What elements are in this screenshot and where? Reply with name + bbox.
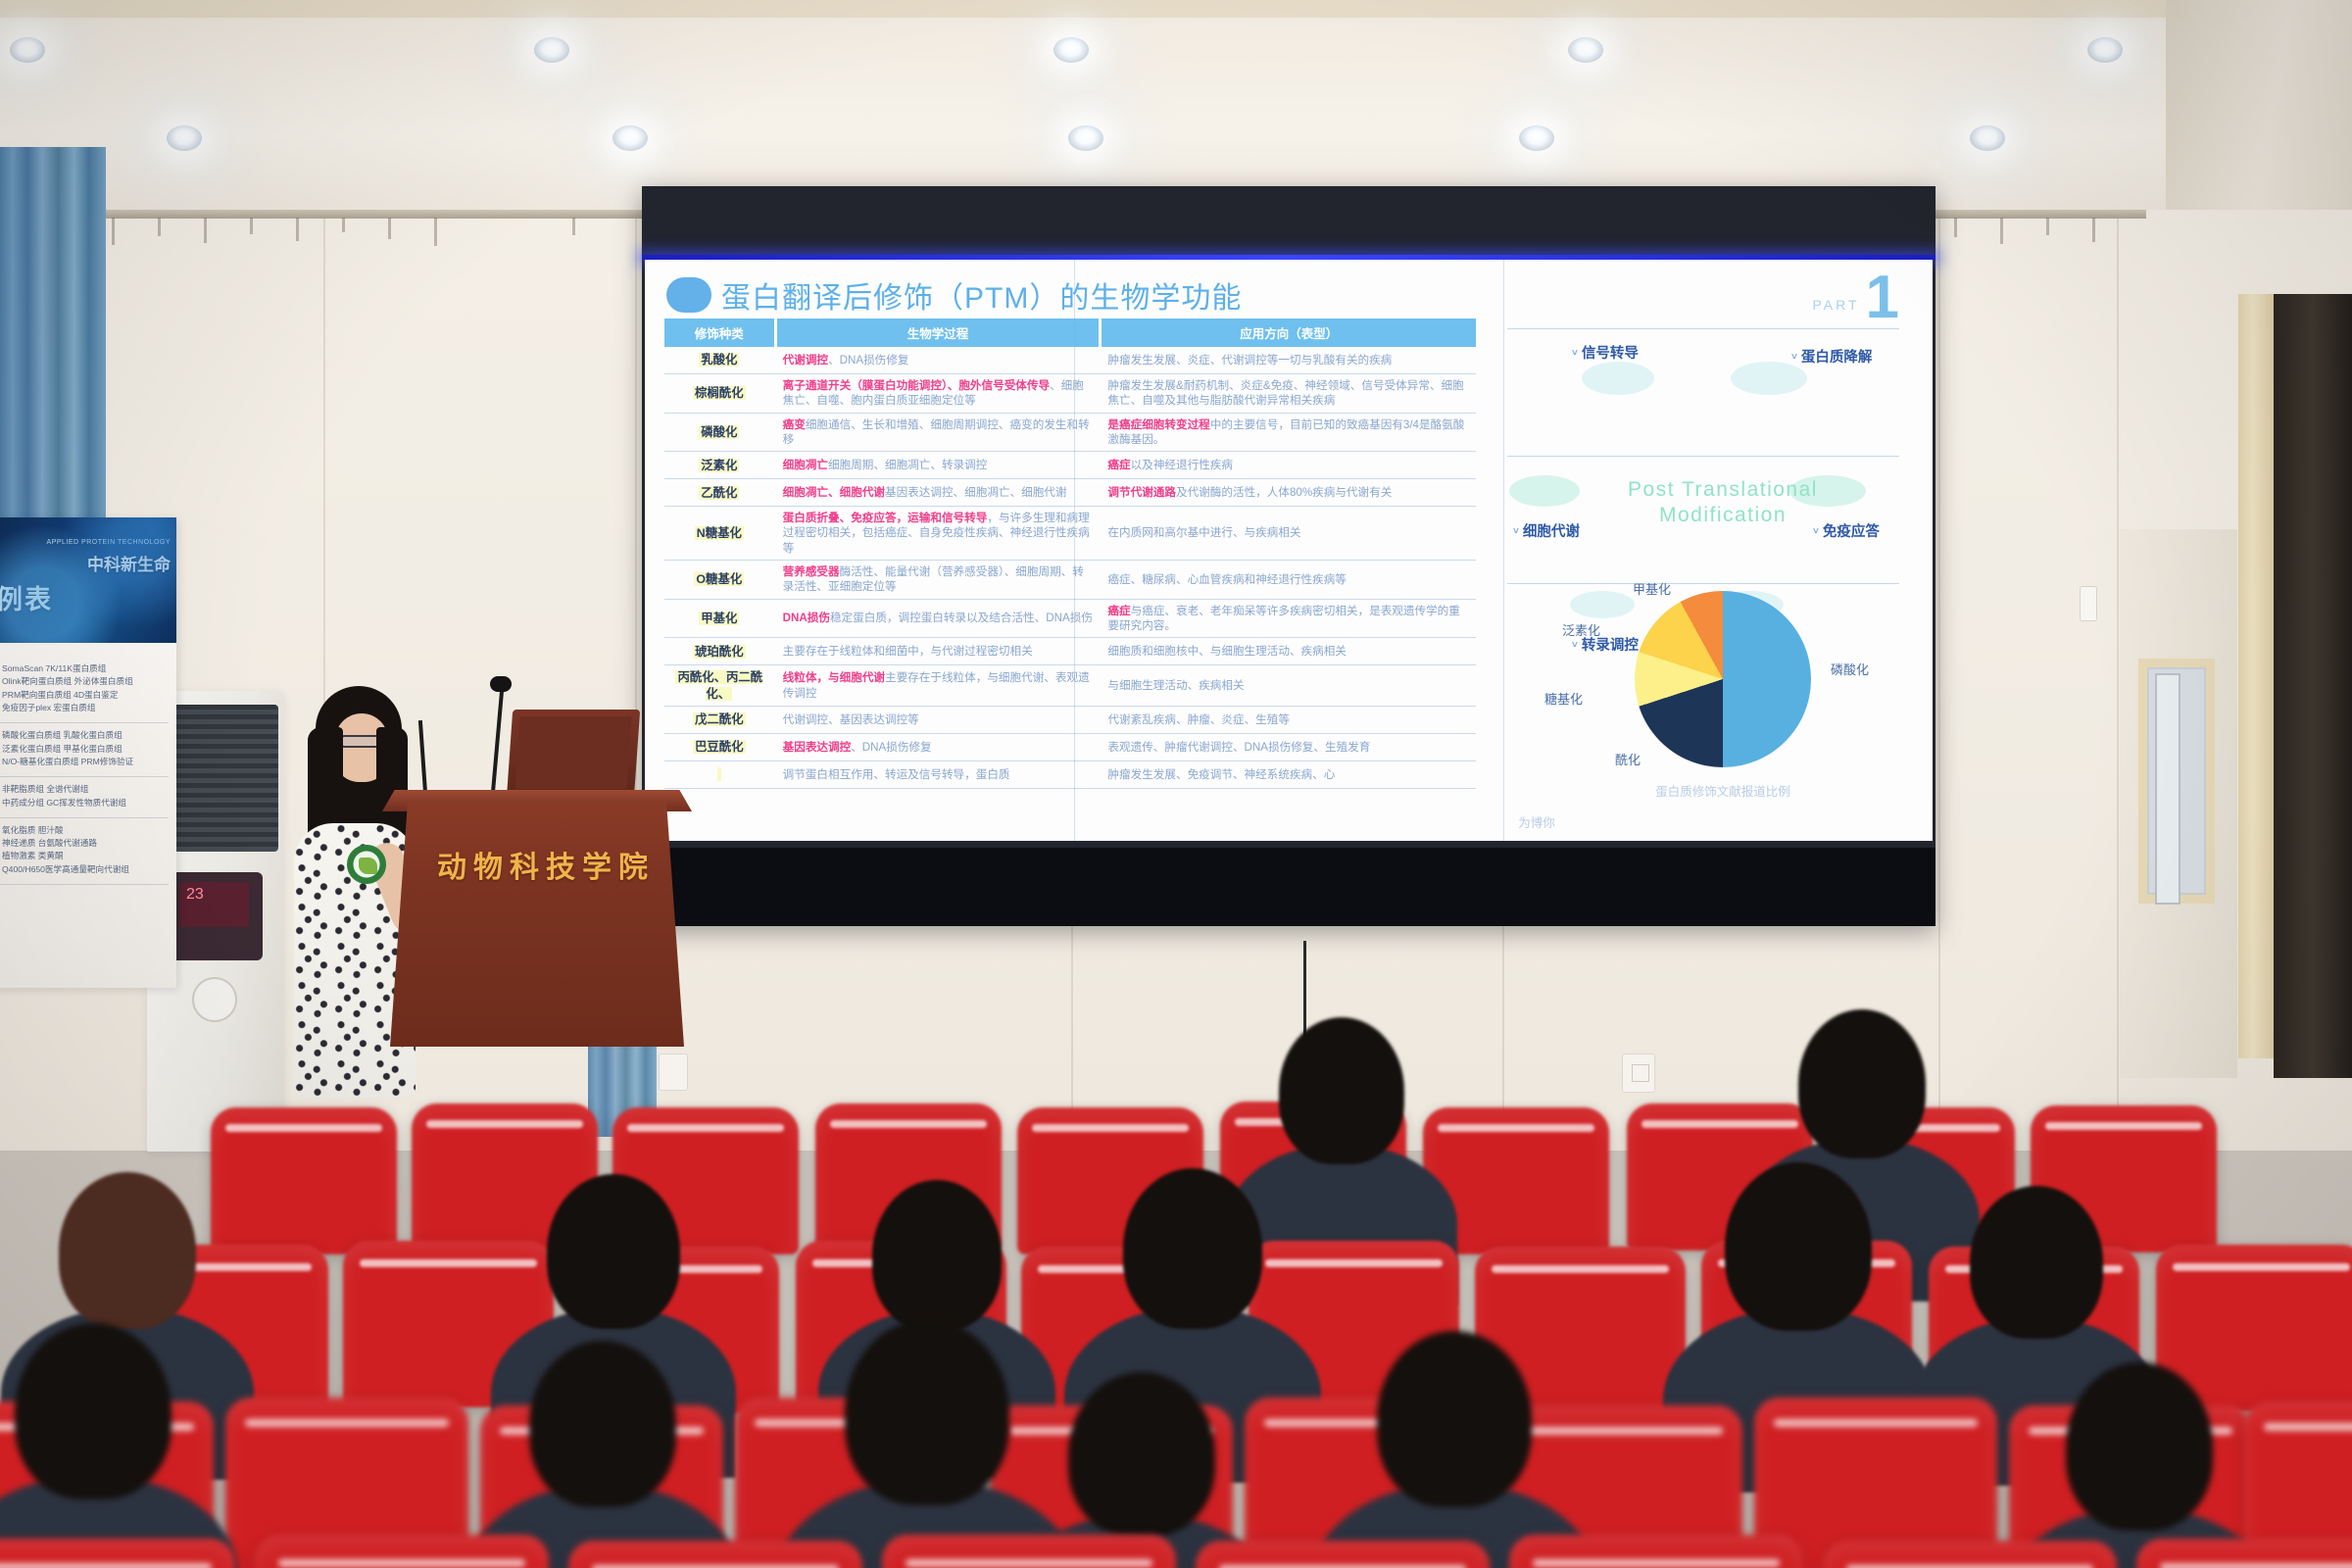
highlight-span: 乳酸化 — [699, 353, 739, 367]
highlight-span: 甲基化 — [699, 612, 739, 625]
highlight-span: 丙酰化、丙二酰化、 — [675, 670, 762, 700]
ptm-function-degradation: 蛋白质降解 — [1791, 346, 1872, 367]
cell-biological-process: 营养感受器酶活性、能量代谢（营养感受器）、细胞周期、转录活性、亚细胞定位等 — [777, 561, 1100, 599]
ceiling-light — [2087, 37, 2123, 63]
cell-text: 稳定蛋白质，调控蛋白转录以及结合活性、DNA损伤 — [830, 612, 1093, 624]
ceiling-bevel — [2166, 0, 2352, 225]
audience-member — [15, 1323, 171, 1499]
ceiling-light — [167, 125, 202, 151]
highlight-span: 泛素化 — [699, 459, 739, 472]
rollup-banner: APPLIED PROTEIN TECHNOLOGY 中科新生命 例表 Soma… — [0, 517, 176, 988]
cell-modification-type — [664, 762, 774, 786]
cell-modification-type: 泛素化 — [664, 454, 774, 477]
highlight-span: N糖基化 — [695, 526, 744, 540]
curtain-hook — [296, 218, 299, 241]
cell-text: 肿瘤发生发展、炎症、代谢调控等一切与乳酸有关的疾病 — [1107, 354, 1392, 367]
banner-service-item: 中药成分组 GC挥发性物质代谢组 — [2, 797, 167, 809]
ptm-overview-panel: PART 1 信号转导 蛋白质降解 细胞代谢 免疫应答 — [1507, 268, 1919, 836]
cell-application: 与细胞生理活动、疾病相关 — [1102, 674, 1476, 697]
cell-text: 以及神经退行性疾病 — [1131, 459, 1233, 471]
cell-text: 细胞通信、生长和增殖、细胞周期调控、癌变的发生和转移 — [783, 418, 1090, 446]
highlight-span: 琥珀酰化 — [693, 645, 746, 659]
cell-biological-process: 代谢调控、DNA损伤修复 — [777, 349, 1100, 371]
decorative-bubble — [1509, 475, 1580, 507]
pie-slice-label: 甲基化 — [1633, 579, 1671, 598]
highlight-span: 乙酰化 — [699, 486, 739, 500]
led-tile-seam — [1503, 260, 1504, 841]
ceiling-light — [534, 37, 569, 63]
cell-biological-process: 细胞凋亡细胞周期、细胞凋亡、转录调控 — [777, 454, 1100, 476]
curtain-hook — [388, 218, 391, 239]
pie-slice-label: 糖基化 — [1544, 689, 1583, 708]
table-row: O糖基化营养感受器酶活性、能量代谢（营养感受器）、细胞周期、转录活性、亚细胞定位… — [664, 561, 1476, 600]
screen-lower-bezel — [642, 848, 1935, 926]
table-row: 乳酸化代谢调控、DNA损伤修复肿瘤发生发展、炎症、代谢调控等一切与乳酸有关的疾病 — [664, 347, 1476, 374]
table-row: 泛素化细胞凋亡细胞周期、细胞凋亡、转录调控癌症以及神经退行性疾病 — [664, 452, 1476, 479]
ceiling-light — [1053, 37, 1089, 63]
banner-service-item: PRM靶向蛋白质组 4D蛋白鉴定 — [2, 689, 167, 702]
banner-service-item: 植物激素 类黄酮 — [2, 850, 167, 862]
ceiling-light — [612, 125, 648, 151]
panel-footer-note: 为博你 — [1478, 812, 1595, 831]
cell-modification-type: 磷酸化 — [664, 420, 774, 444]
slide-content: 蛋白翻译后修饰（PTM）的生物学功能 修饰种类 生物学过程 应用方向（表型） 乳… — [645, 260, 1933, 841]
audience-member — [1279, 1017, 1404, 1164]
highlight-span: 离子通道开关（膜蛋白功能调控）、胞外信号受体传导 — [783, 379, 1050, 392]
audience-member — [1123, 1168, 1262, 1329]
cell-application: 代谢紊乱疾病、肿瘤、炎症、生殖等 — [1102, 709, 1476, 731]
cell-application: 在内质网和高尔基中进行、与疾病相关 — [1102, 521, 1476, 544]
divider — [1507, 583, 1899, 584]
cell-biological-process: 癌变细胞通信、生长和增殖、细胞周期调控、癌变的发生和转移 — [777, 414, 1100, 452]
cell-text: 细胞周期、细胞凋亡、转录调控 — [828, 459, 987, 471]
college-emblem-icon — [347, 845, 386, 884]
cell-text: 代谢紊乱疾病、肿瘤、炎症、生殖等 — [1107, 713, 1290, 726]
lectern — [390, 802, 684, 1047]
column-header-process: 生物学过程 — [777, 318, 1100, 347]
cell-text: 与癌症、衰老、老年痴呆等许多疾病密切相关，是表观遗传学的重要研究内容。 — [1107, 605, 1459, 632]
cell-modification-type: O糖基化 — [664, 567, 774, 591]
highlight-span: 棕榈酰化 — [693, 386, 746, 400]
highlight-span: 蛋白质折叠、免疫应答，运输和信号转导 — [783, 512, 988, 524]
banner-logo-cn-text: 中科新生命 — [87, 551, 171, 575]
laptop-screen — [515, 716, 632, 789]
pie-chart-caption: 蛋白质修饰文献报道比例 — [1566, 781, 1880, 800]
decorative-bubble — [1731, 362, 1807, 395]
banner-service-item: Olink靶向蛋白质组 外泌体蛋白质组 — [2, 675, 167, 688]
cell-application: 癌症与癌症、衰老、老年痴呆等许多疾病密切相关，是表观遗传学的重要研究内容。 — [1102, 600, 1476, 638]
cell-text: 在内质网和高尔基中进行、与疾病相关 — [1107, 526, 1300, 539]
column-header-application: 应用方向（表型） — [1102, 318, 1476, 347]
curtain-hook — [112, 218, 115, 245]
auditorium-seat — [568, 1541, 862, 1568]
screen-display-area: 蛋白翻译后修饰（PTM）的生物学功能 修饰种类 生物学过程 应用方向（表型） 乳… — [645, 260, 1933, 841]
cell-text: 表观遗传、肿瘤代谢调控、DNA损伤修复、生殖发育 — [1107, 741, 1370, 754]
part-indicator: PART 1 — [1812, 273, 1899, 322]
cell-text: 及代谢酶的活性，人体80%疾病与代谢有关 — [1176, 486, 1392, 499]
pie-slice-label: 泛素化 — [1562, 620, 1600, 639]
table-row: 甲基化DNA损伤稳定蛋白质，调控蛋白转录以及结合活性、DNA损伤癌症与癌症、衰老… — [664, 600, 1476, 639]
curtain-hook — [204, 218, 207, 243]
auditorium-seat — [882, 1535, 1176, 1568]
cell-text: 基因表达调控、细胞凋亡、细胞代谢 — [885, 486, 1067, 499]
cell-text: 肿瘤发生发展、免疫调节、神经系统疾病、心 — [1107, 768, 1335, 781]
cell-modification-type: 戊二酰化 — [664, 708, 774, 731]
audience-member — [59, 1172, 196, 1329]
ptm-function-signal: 信号转导 — [1572, 342, 1639, 363]
cell-modification-type: 丙酰化、丙二酰化、 — [664, 665, 774, 706]
divider — [1507, 456, 1899, 457]
cell-application: 肿瘤发生发展、免疫调节、神经系统疾病、心 — [1102, 763, 1476, 786]
venue-sign-text: 动物科技学院 — [423, 843, 668, 886]
audience-member — [529, 1341, 676, 1507]
audience-member — [845, 1319, 1009, 1505]
auditorium-seat — [211, 1107, 397, 1254]
highlight-span: 营养感受器 — [783, 565, 840, 578]
slide-title-row: 蛋白翻译后修饰（PTM）的生物学功能 — [666, 273, 1242, 317]
cell-application: 细胞质和细胞核中、与细胞生理活动、疾病相关 — [1102, 640, 1476, 662]
small-window — [2138, 659, 2215, 904]
decorative-bubble — [1570, 591, 1635, 618]
cell-text: 主要存在于线粒体和细菌中，与代谢过程密切相关 — [783, 645, 1033, 658]
cell-text: 细胞质和细胞核中、与细胞生理活动、疾病相关 — [1107, 645, 1346, 658]
presentation-screen: 蛋白翻译后修饰（PTM）的生物学功能 修饰种类 生物学过程 应用方向（表型） 乳… — [642, 186, 1935, 926]
highlight-span: 是癌症细胞转变过程 — [1107, 418, 1209, 431]
table-row: 磷酸化癌变细胞通信、生长和增殖、细胞周期调控、癌变的发生和转移是癌症细胞转变过程… — [664, 414, 1476, 453]
audience-seating — [0, 1078, 2352, 1568]
banner-service-item: 非靶脂质组 全谱代谢组 — [2, 783, 167, 796]
audience-member — [1377, 1331, 1532, 1507]
cell-text: 代谢调控、基因表达调控等 — [783, 713, 919, 726]
audience-member — [1725, 1162, 1872, 1331]
ceiling-light — [1519, 125, 1554, 151]
ptm-function-metabolism: 细胞代谢 — [1513, 520, 1580, 541]
ptm-function-table: 修饰种类 生物学过程 应用方向（表型） 乳酸化代谢调控、DNA损伤修复肿瘤发生发… — [664, 318, 1476, 789]
cell-text: 、DNA损伤修复 — [828, 354, 908, 367]
curtain-hook — [158, 218, 161, 236]
decorative-bubble — [1582, 362, 1654, 395]
ceiling-light — [1568, 37, 1603, 63]
curtain-hook — [2000, 218, 2003, 244]
page-title: 蛋白翻译后修饰（PTM）的生物学功能 — [721, 273, 1242, 317]
cell-biological-process: 离子通道开关（膜蛋白功能调控）、胞外信号受体传导、细胞焦亡、自噬、胞内蛋白质亚细… — [777, 374, 1100, 413]
cell-modification-type: 乳酸化 — [664, 348, 774, 371]
light-switch[interactable] — [2080, 586, 2097, 621]
banner-service-item: 神经递质 台氨酸代谢通路 — [2, 837, 167, 850]
auditorium-seat — [1823, 1541, 2117, 1568]
highlight-span: 代谢调控 — [783, 354, 828, 367]
banner-service-item: 泛素化蛋白质组 甲基化蛋白质组 — [2, 743, 167, 756]
cell-text: 癌症、糖尿病、心血管疾病和神经退行性疾病等 — [1107, 573, 1346, 586]
banner-section: 磷酸化蛋白质组 乳酸化蛋白质组泛素化蛋白质组 甲基化蛋白质组N/O-糖基化蛋白质… — [0, 723, 169, 777]
ptm-english-title: Post Translational Modification — [1595, 477, 1850, 529]
cell-biological-process: 基因表达调控、DNA损伤修复 — [777, 736, 1100, 759]
curtain-hook — [572, 218, 575, 235]
auditorium-seat — [1509, 1535, 1803, 1568]
cell-application: 肿瘤发生发展&耐药机制、炎症&免疫、神经领域、信号受体异常、细胞焦亡、自噬及其他… — [1102, 374, 1476, 413]
highlight-span: O糖基化 — [694, 572, 744, 586]
highlight-span: 细胞凋亡 — [783, 459, 828, 471]
highlight-span: 线粒体，与细胞代谢 — [783, 671, 885, 684]
wall-seam — [1938, 210, 1940, 1151]
audience-member — [872, 1180, 1002, 1331]
curtain-hook — [1954, 218, 1957, 237]
table-body: 乳酸化代谢调控、DNA损伤修复肿瘤发生发展、炎症、代谢调控等一切与乳酸有关的疾病… — [664, 347, 1476, 789]
table-row: 巴豆酰化基因表达调控、DNA损伤修复表观遗传、肿瘤代谢调控、DNA损伤修复、生殖… — [664, 734, 1476, 761]
audience-member — [2066, 1362, 2213, 1531]
cell-biological-process: 蛋白质折叠、免疫应答，运输和信号转导，与许多生理和病理过程密切相关，包括癌症、自… — [777, 507, 1100, 560]
cell-text: 与细胞生理活动、疾病相关 — [1107, 679, 1244, 692]
pie-slice-label: 磷酸化 — [1831, 660, 1869, 678]
cell-text: 调节蛋白相互作用、转运及信号转导，蛋白质 — [783, 768, 1010, 781]
banner-service-item: Q400/H650医学高通量靶向代谢组 — [2, 863, 167, 876]
banner-service-list: SomaScan 7K/11K蛋白质组Olink靶向蛋白质组 外泌体蛋白质组PR… — [0, 643, 176, 988]
cell-modification-type: 琥珀酰化 — [664, 640, 774, 663]
cell-text: 肿瘤发生发展&耐药机制、炎症&免疫、神经领域、信号受体异常、细胞焦亡、自噬及其他… — [1107, 379, 1463, 407]
cell-biological-process: 调节蛋白相互作用、转运及信号转导，蛋白质 — [777, 763, 1100, 786]
curtain-hook — [342, 218, 345, 232]
cell-application: 表观遗传、肿瘤代谢调控、DNA损伤修复、生殖发育 — [1102, 736, 1476, 759]
table-header-row: 修饰种类 生物学过程 应用方向（表型） — [664, 318, 1476, 347]
banner-service-item: N/O-糖基化蛋白质组 PRM修饰验证 — [2, 756, 167, 768]
ceiling-light — [1970, 125, 2005, 151]
cell-modification-type: 甲基化 — [664, 607, 774, 630]
ceiling-light — [10, 37, 45, 63]
pie-slice-label: 酰化 — [1615, 750, 1641, 768]
auditorium-seat — [0, 1539, 235, 1568]
banner-logo-en-text: APPLIED PROTEIN TECHNOLOGY — [47, 539, 171, 546]
highlight-span: 调节代谢通路 — [1107, 486, 1176, 499]
cell-application: 癌症、糖尿病、心血管疾病和神经退行性疾病等 — [1102, 568, 1476, 591]
banner-section: 氧化脂质 胆汁酸神经递质 台氨酸代谢通路植物激素 类黄酮Q400/H650医学高… — [0, 818, 169, 885]
highlight-span: 基因表达调控 — [783, 741, 852, 754]
laptop — [507, 710, 640, 800]
audience-member — [1068, 1372, 1215, 1537]
cell-modification-type: 棕榈酰化 — [664, 381, 774, 405]
cell-biological-process: 主要存在于线粒体和细菌中，与代谢过程密切相关 — [777, 640, 1100, 662]
ceiling-top-strip — [0, 0, 2352, 18]
ptm-literature-pie-chart — [1635, 591, 1811, 767]
ac-control-panel: 23 — [169, 872, 263, 960]
banner-section: SomaScan 7K/11K蛋白质组Olink靶向蛋白质组 外泌体蛋白质组PR… — [0, 657, 169, 723]
door-jamb — [2238, 294, 2274, 1058]
title-accent-pill — [666, 277, 711, 313]
highlight-span: 癌症 — [1107, 605, 1130, 617]
banner-service-item: 磷酸化蛋白质组 乳酸化蛋白质组 — [2, 729, 167, 742]
highlight-span: 细胞凋亡、细胞代谢 — [783, 486, 885, 499]
ac-power-button[interactable] — [192, 977, 237, 1022]
highlight-span: 癌变 — [783, 418, 806, 431]
cell-application: 是癌症细胞转变过程中的主要信号，目前已知的致癌基因有3/4是酪氨酸激酶基因。 — [1102, 414, 1476, 452]
highlight-span: 癌症 — [1107, 459, 1130, 471]
part-number: 1 — [1866, 273, 1899, 322]
highlight-span: 磷酸化 — [699, 425, 739, 439]
highlight-span: DNA损伤 — [783, 612, 830, 624]
auditorium-seat — [255, 1535, 549, 1568]
cell-application: 癌症以及神经退行性疾病 — [1102, 454, 1476, 476]
window-sash — [2155, 673, 2180, 905]
highlight-span: 戊二酰化 — [693, 712, 746, 726]
banner-header: APPLIED PROTEIN TECHNOLOGY 中科新生命 例表 — [0, 517, 176, 643]
banner-service-item: 氧化脂质 胆汁酸 — [2, 824, 167, 837]
cell-biological-process: 细胞凋亡、细胞代谢基因表达调控、细胞凋亡、细胞代谢 — [777, 481, 1100, 504]
curtain-hook — [2092, 218, 2095, 242]
cell-modification-type: 巴豆酰化 — [664, 735, 774, 759]
curtain-hook — [434, 218, 437, 246]
divider — [1507, 328, 1899, 329]
audience-member — [1970, 1186, 2103, 1339]
banner-service-item: 免疫因子plex 宏蛋白质组 — [2, 702, 167, 714]
cell-application: 调节代谢通路及代谢酶的活性，人体80%疾病与代谢有关 — [1102, 481, 1476, 504]
ptm-en-line2: Modification — [1595, 503, 1850, 528]
highlight-span: 巴豆酰化 — [693, 740, 746, 754]
table-row: 乙酰化细胞凋亡、细胞代谢基因表达调控、细胞凋亡、细胞代谢调节代谢通路及代谢酶的活… — [664, 479, 1476, 507]
banner-service-item: SomaScan 7K/11K蛋白质组 — [2, 662, 167, 675]
audience-member — [547, 1174, 680, 1329]
curtain-hook — [250, 218, 253, 234]
cell-text: 、DNA损伤修复 — [851, 741, 931, 754]
cell-modification-type: 乙酰化 — [664, 481, 774, 505]
curtain-hook — [2046, 218, 2049, 235]
doorway — [2274, 294, 2352, 1078]
auditorium-seat — [2136, 1539, 2352, 1568]
banner-title-text: 例表 — [0, 578, 53, 616]
table-row: 琥珀酰化主要存在于线粒体和细菌中，与代谢过程密切相关细胞质和细胞核中、与细胞生理… — [664, 638, 1476, 665]
banner-section: 非靶脂质组 全谱代谢组中药成分组 GC挥发性物质代谢组 — [0, 777, 169, 818]
table-row: 戊二酰化代谢调控、基因表达调控等代谢紊乱疾病、肿瘤、炎症、生殖等 — [664, 707, 1476, 734]
table-row: 调节蛋白相互作用、转运及信号转导，蛋白质肿瘤发生发展、免疫调节、神经系统疾病、心 — [664, 761, 1476, 789]
cell-biological-process: DNA损伤稳定蛋白质，调控蛋白转录以及结合活性、DNA损伤 — [777, 607, 1100, 629]
part-label: PART — [1812, 297, 1859, 322]
audience-member — [1798, 1009, 1926, 1158]
ac-display: 23 — [180, 882, 249, 927]
cell-modification-type: N糖基化 — [664, 521, 774, 545]
auditorium-seat — [1196, 1541, 1490, 1568]
ptm-en-line1: Post Translational — [1595, 477, 1850, 503]
cell-application: 肿瘤发生发展、炎症、代谢调控等一切与乳酸有关的疾病 — [1102, 349, 1476, 371]
cell-biological-process: 线粒体，与细胞代谢主要存在于线粒体，与细胞代谢、表观遗传调控 — [777, 666, 1100, 705]
table-row: 丙酰化、丙二酰化、线粒体，与细胞代谢主要存在于线粒体，与细胞代谢、表观遗传调控与… — [664, 665, 1476, 707]
ceiling-light — [1068, 125, 1103, 151]
microphone-icon — [490, 676, 512, 692]
wall-seam — [2117, 210, 2119, 1151]
table-row: 棕榈酰化离子通道开关（膜蛋白功能调控）、胞外信号受体传导、细胞焦亡、自噬、胞内蛋… — [664, 374, 1476, 414]
table-row: N糖基化蛋白质折叠、免疫应答，运输和信号转导，与许多生理和病理过程密切相关，包括… — [664, 507, 1476, 561]
cell-biological-process: 代谢调控、基因表达调控等 — [777, 709, 1100, 731]
column-header-type: 修饰种类 — [664, 318, 774, 347]
conference-room-photo: 23 APPLIED PROTEIN TECHNOLOGY 中科新生命 例表 S… — [0, 0, 2352, 1568]
led-tile-seam — [1074, 260, 1075, 841]
highlight-span — [717, 767, 721, 781]
